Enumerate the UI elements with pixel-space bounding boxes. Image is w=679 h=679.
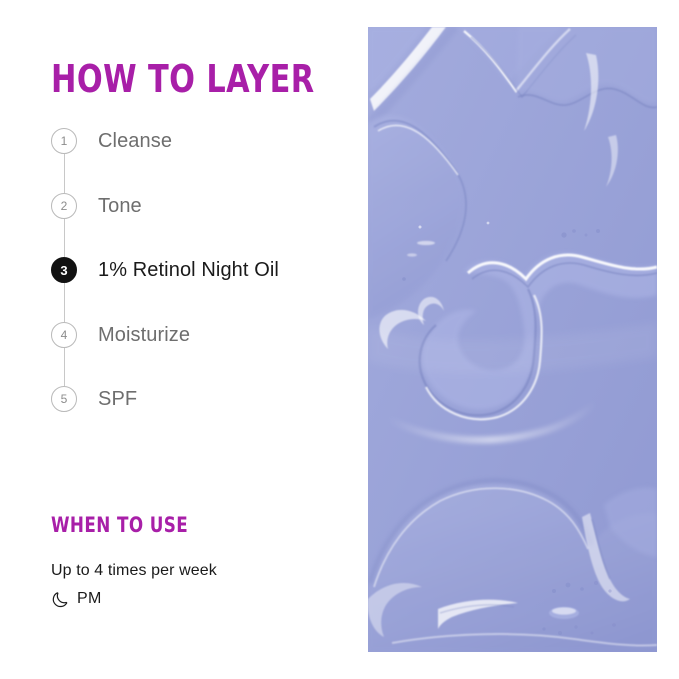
step-label: SPF: [98, 386, 137, 412]
step-connector-line: [64, 219, 65, 258]
step-number-badge: 4: [51, 322, 77, 348]
step-connector-line: [64, 348, 65, 387]
step-number: 5: [61, 392, 68, 406]
step-connector-line: [64, 283, 65, 322]
usage-time-label: PM: [77, 590, 102, 608]
step-label: Cleanse: [98, 128, 172, 154]
list-item: 1 Cleanse: [51, 128, 351, 193]
layering-steps-list: 1 Cleanse 2 Tone 3 1% Retinol Night Oil: [51, 128, 351, 451]
step-number-badge: 1: [51, 128, 77, 154]
step-number: 3: [60, 263, 67, 278]
step-number: 2: [61, 199, 68, 213]
list-item: 5 SPF: [51, 386, 351, 451]
usage-time-row: PM: [51, 590, 102, 608]
step-number-badge: 2: [51, 193, 77, 219]
step-label: Tone: [98, 193, 142, 219]
step-connector-line: [64, 154, 65, 193]
list-item: 4 Moisturize: [51, 322, 351, 387]
list-item-active: 3 1% Retinol Night Oil: [51, 257, 351, 322]
product-info-card: HOW TO LAYER 1 Cleanse 2 Tone 3: [0, 0, 679, 679]
step-number: 1: [61, 134, 68, 148]
left-content-column: HOW TO LAYER 1 Cleanse 2 Tone 3: [0, 0, 360, 679]
how-to-layer-heading: HOW TO LAYER: [51, 60, 315, 98]
step-number-badge-active: 3: [51, 257, 77, 283]
step-label-active: 1% Retinol Night Oil: [98, 257, 279, 283]
serum-texture-graphic: [368, 27, 657, 652]
step-number: 4: [61, 328, 68, 342]
product-texture-image: [368, 27, 657, 652]
when-to-use-heading: WHEN TO USE: [51, 515, 188, 536]
list-item: 2 Tone: [51, 193, 351, 258]
moon-icon: [51, 590, 69, 608]
step-label: Moisturize: [98, 322, 190, 348]
usage-frequency-text: Up to 4 times per week: [51, 562, 217, 580]
step-number-badge: 5: [51, 386, 77, 412]
